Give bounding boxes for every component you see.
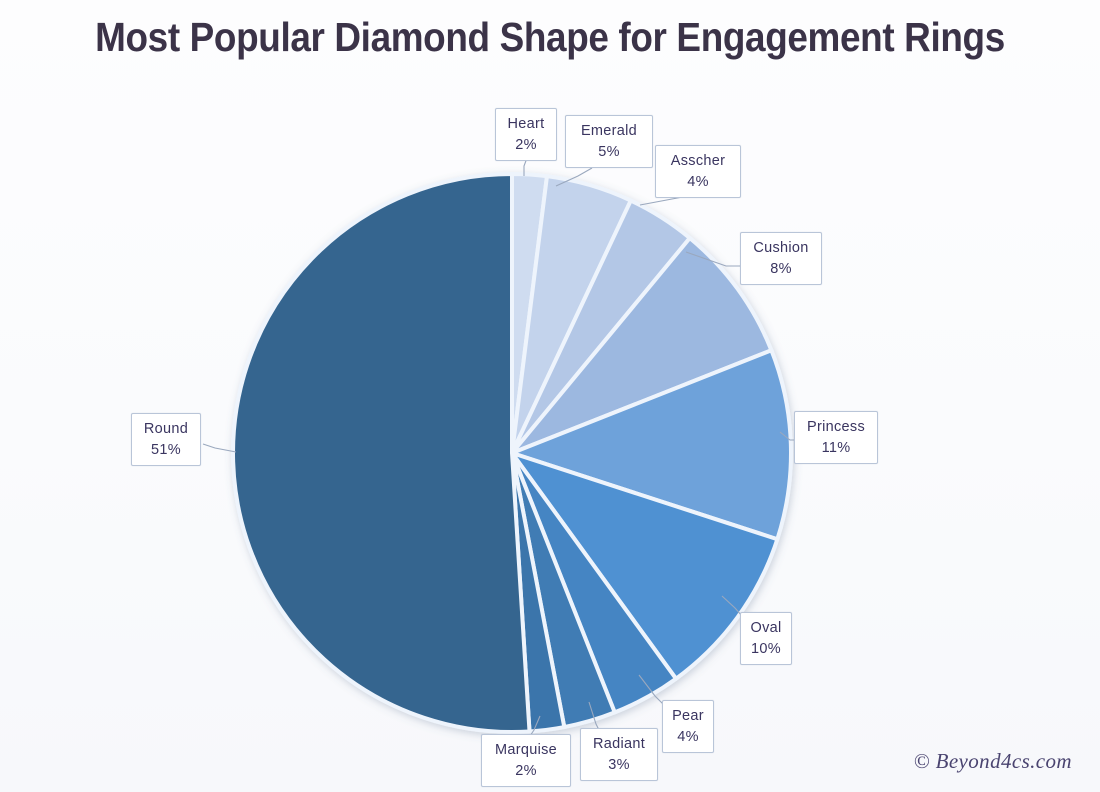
callout-radiant-label: Radiant	[588, 734, 650, 755]
callout-radiant[interactable]: Radiant 3%	[580, 728, 658, 781]
callout-round-label: Round	[139, 419, 193, 440]
callout-asscher[interactable]: Asscher 4%	[655, 145, 741, 198]
callout-asscher-value: 4%	[663, 172, 733, 193]
pie-slice-round[interactable]	[233, 174, 530, 732]
callout-heart[interactable]: Heart 2%	[495, 108, 557, 161]
callout-pear-label: Pear	[670, 706, 706, 727]
callout-marquise-label: Marquise	[489, 740, 563, 761]
watermark: © Beyond4cs.com	[914, 749, 1072, 774]
callout-marquise-value: 2%	[489, 761, 563, 782]
callout-oval[interactable]: Oval 10%	[740, 612, 792, 665]
callout-princess-label: Princess	[802, 417, 870, 438]
callout-cushion-label: Cushion	[748, 238, 814, 259]
callout-emerald-label: Emerald	[573, 121, 645, 142]
callout-asscher-label: Asscher	[663, 151, 733, 172]
callout-princess-value: 11%	[802, 438, 870, 459]
callout-marquise[interactable]: Marquise 2%	[481, 734, 571, 787]
callout-radiant-value: 3%	[588, 755, 650, 776]
callout-emerald[interactable]: Emerald 5%	[565, 115, 653, 168]
callout-cushion-value: 8%	[748, 259, 814, 280]
callout-oval-value: 10%	[748, 639, 784, 660]
callout-round-value: 51%	[139, 440, 193, 461]
callout-pear-value: 4%	[670, 727, 706, 748]
pie-slices	[233, 174, 791, 732]
callout-princess[interactable]: Princess 11%	[794, 411, 878, 464]
callout-round[interactable]: Round 51%	[131, 413, 201, 466]
callout-emerald-value: 5%	[573, 142, 645, 163]
callout-pear[interactable]: Pear 4%	[662, 700, 714, 753]
chart-canvas: Most Popular Diamond Shape for Engagemen…	[0, 0, 1100, 792]
callout-cushion[interactable]: Cushion 8%	[740, 232, 822, 285]
callout-heart-value: 2%	[503, 135, 549, 156]
callout-heart-label: Heart	[503, 114, 549, 135]
callout-oval-label: Oval	[748, 618, 784, 639]
